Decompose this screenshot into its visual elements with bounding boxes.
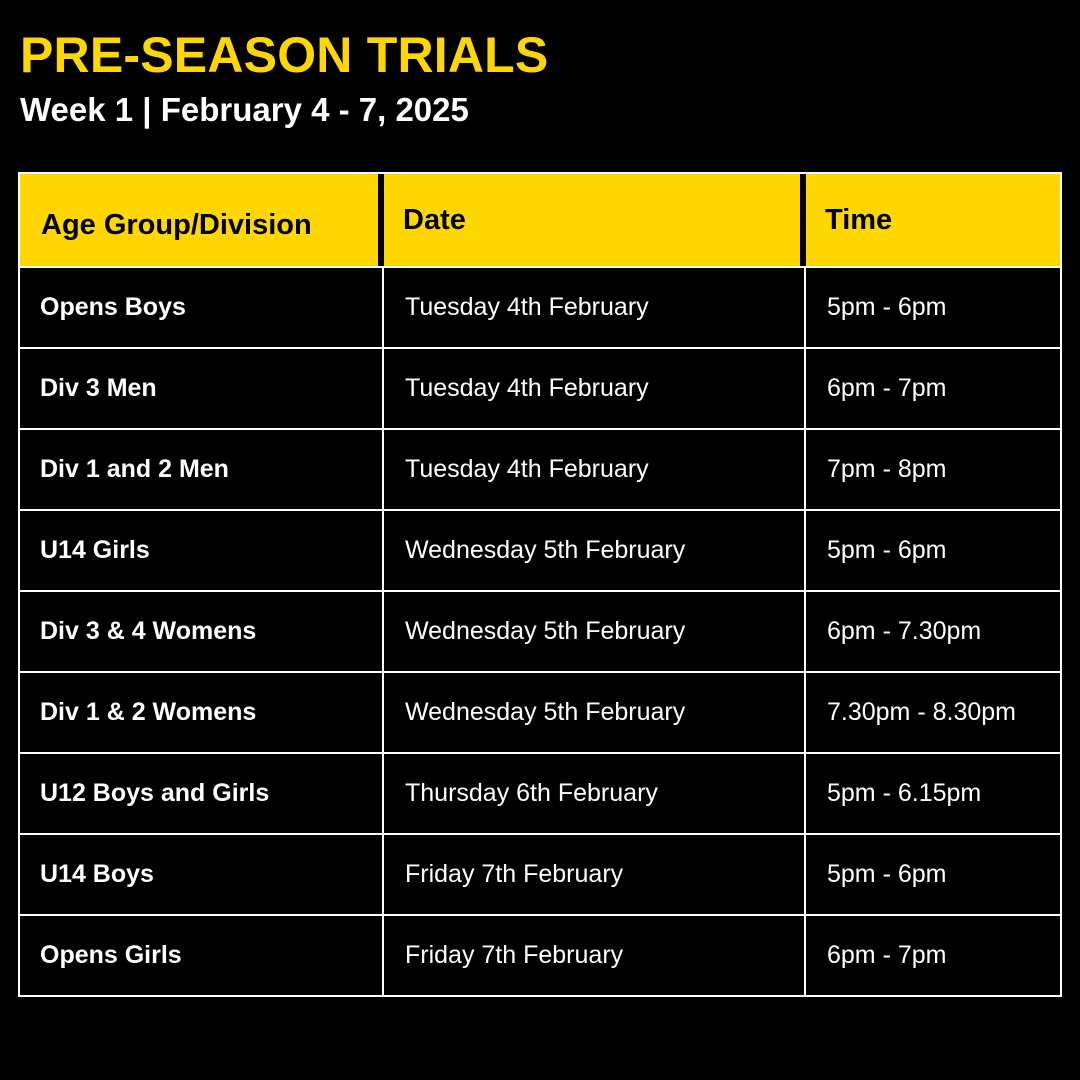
cell-time: 6pm - 7pm (804, 349, 1060, 428)
cell-time: 6pm - 7.30pm (804, 592, 1060, 671)
schedule-table: Age Group/Division Date Time Opens Boys … (18, 172, 1062, 997)
division-text: Div 1 and 2 Men (40, 457, 229, 482)
division-text: U12 Boys and Girls (40, 781, 269, 806)
division-text: U14 Girls (40, 538, 150, 563)
page-subtitle: Week 1 | February 4 - 7, 2025 (20, 92, 1060, 128)
cell-date: Wednesday 5th February (382, 511, 804, 590)
time-text: 6pm - 7.30pm (827, 619, 981, 644)
date-text: Wednesday 5th February (405, 538, 685, 563)
date-text: Friday 7th February (405, 862, 623, 887)
table-row: Div 1 & 2 Womens Wednesday 5th February … (20, 671, 1060, 752)
cell-date: Wednesday 5th February (382, 673, 804, 752)
date-text: Wednesday 5th February (405, 619, 685, 644)
time-text: 7pm - 8pm (827, 457, 946, 482)
table-row: Div 1 and 2 Men Tuesday 4th February 7pm… (20, 428, 1060, 509)
cell-time: 5pm - 6pm (804, 511, 1060, 590)
division-text: U14 Boys (40, 862, 154, 887)
cell-time: 7pm - 8pm (804, 430, 1060, 509)
cell-time: 5pm - 6.15pm (804, 754, 1060, 833)
date-text: Tuesday 4th February (405, 295, 649, 320)
trials-poster: PRE-SEASON TRIALS Week 1 | February 4 - … (0, 0, 1080, 1080)
cell-time: 5pm - 6pm (804, 835, 1060, 914)
table-row: Opens Boys Tuesday 4th February 5pm - 6p… (20, 266, 1060, 347)
division-text: Div 3 & 4 Womens (40, 619, 256, 644)
header-label-time: Time (825, 206, 892, 235)
cell-division: Opens Girls (20, 916, 382, 995)
header-label-age-group: Age Group/Division (41, 211, 312, 240)
cell-time: 6pm - 7pm (804, 916, 1060, 995)
cell-date: Thursday 6th February (382, 754, 804, 833)
cell-time: 7.30pm - 8.30pm (804, 673, 1060, 752)
cell-time: 5pm - 6pm (804, 268, 1060, 347)
cell-division: Div 1 & 2 Womens (20, 673, 382, 752)
cell-date: Friday 7th February (382, 916, 804, 995)
header-label-date: Date (403, 206, 466, 235)
table-row: U14 Boys Friday 7th February 5pm - 6pm (20, 833, 1060, 914)
cell-division: Div 3 Men (20, 349, 382, 428)
time-text: 7.30pm - 8.30pm (827, 700, 1016, 725)
time-text: 6pm - 7pm (827, 943, 946, 968)
date-text: Friday 7th February (405, 943, 623, 968)
poster-header: PRE-SEASON TRIALS Week 1 | February 4 - … (20, 28, 1060, 128)
date-text: Tuesday 4th February (405, 376, 649, 401)
cell-division: Opens Boys (20, 268, 382, 347)
time-text: 6pm - 7pm (827, 376, 946, 401)
date-text: Tuesday 4th February (405, 457, 649, 482)
cell-date: Friday 7th February (382, 835, 804, 914)
table-grid: Age Group/Division Date Time Opens Boys … (20, 174, 1060, 995)
time-text: 5pm - 6.15pm (827, 781, 981, 806)
division-text: Div 3 Men (40, 376, 157, 401)
table-row: Opens Girls Friday 7th February 6pm - 7p… (20, 914, 1060, 995)
table-row: Div 3 Men Tuesday 4th February 6pm - 7pm (20, 347, 1060, 428)
table-row: U12 Boys and Girls Thursday 6th February… (20, 752, 1060, 833)
division-text: Opens Boys (40, 295, 186, 320)
date-text: Wednesday 5th February (405, 700, 685, 725)
time-text: 5pm - 6pm (827, 862, 946, 887)
header-cell-date: Date (384, 174, 806, 266)
division-text: Div 1 & 2 Womens (40, 700, 256, 725)
header-cell-age-group: Age Group/Division (20, 174, 384, 266)
cell-division: Div 1 and 2 Men (20, 430, 382, 509)
table-row: Div 3 & 4 Womens Wednesday 5th February … (20, 590, 1060, 671)
cell-date: Tuesday 4th February (382, 268, 804, 347)
cell-division: U14 Girls (20, 511, 382, 590)
header-cell-time: Time (806, 174, 1060, 266)
cell-division: U14 Boys (20, 835, 382, 914)
page-title: PRE-SEASON TRIALS (20, 28, 1060, 82)
division-text: Opens Girls (40, 943, 182, 968)
cell-division: U12 Boys and Girls (20, 754, 382, 833)
cell-date: Wednesday 5th February (382, 592, 804, 671)
cell-division: Div 3 & 4 Womens (20, 592, 382, 671)
date-text: Thursday 6th February (405, 781, 658, 806)
time-text: 5pm - 6pm (827, 295, 946, 320)
cell-date: Tuesday 4th February (382, 349, 804, 428)
time-text: 5pm - 6pm (827, 538, 946, 563)
table-header-row: Age Group/Division Date Time (20, 174, 1060, 266)
cell-date: Tuesday 4th February (382, 430, 804, 509)
table-row: U14 Girls Wednesday 5th February 5pm - 6… (20, 509, 1060, 590)
